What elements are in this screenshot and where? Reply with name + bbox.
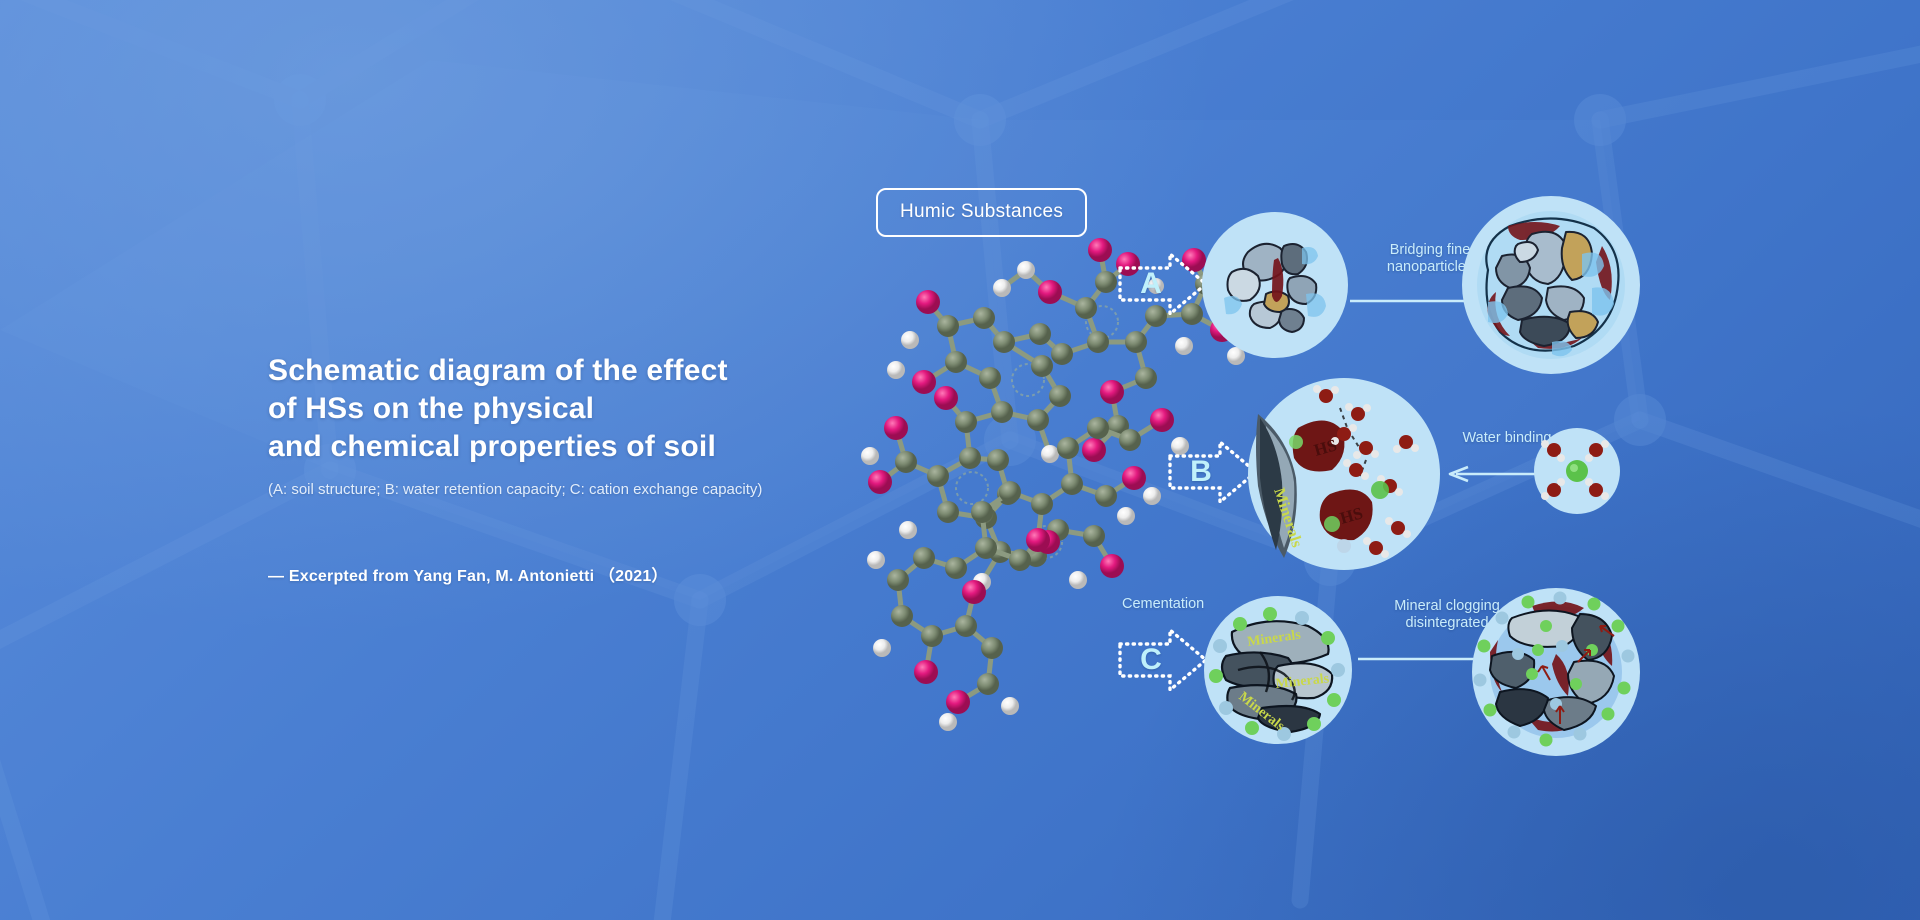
subtitle-legend: (A: soil structure; B: water retention c… (268, 480, 888, 500)
headline-block: Schematic diagram of the effect of HSs o… (268, 352, 888, 586)
source-attribution: — Excerpted from Yang Fan, M. Antonietti… (268, 562, 888, 586)
cemented-minerals-art: Minerals Minerals Minerals (1204, 596, 1352, 744)
hydrated-cation-art (1534, 428, 1620, 514)
hs-mineral-water-art: HS HS Minerals (1248, 378, 1440, 570)
arrow-letter-b: B (1168, 440, 1258, 504)
circle-b-right (1534, 428, 1620, 514)
poster-canvas: Schematic diagram of the effect of HSs o… (0, 0, 1920, 920)
circle-c-left: Minerals Minerals Minerals (1204, 596, 1352, 744)
arrow-letter-c: C (1118, 628, 1208, 692)
bridged-aggregate-art (1462, 196, 1640, 374)
humic-substances-text: Humic Substances (900, 201, 1063, 222)
title-line-2: of HSs on the physical (268, 392, 594, 425)
disintegrated-minerals-art (1472, 588, 1640, 756)
arrow-letter-a: A (1118, 252, 1208, 316)
page-title: Schematic diagram of the effect of HSs o… (268, 352, 888, 466)
block-arrow-c-letter-wrap: C (1118, 628, 1208, 692)
block-arrow-a-letter-wrap: A (1118, 252, 1208, 316)
loose-particles-art (1202, 212, 1348, 358)
block-arrow-b-letter-wrap: B (1168, 440, 1258, 504)
title-line-1: Schematic diagram of the effect (268, 354, 728, 387)
title-line-3: and chemical properties of soil (268, 430, 716, 463)
circle-c-right (1472, 588, 1640, 756)
circle-a-right (1462, 196, 1640, 374)
circle-a-left (1202, 212, 1348, 358)
circle-b-left: HS HS Minerals (1248, 378, 1440, 570)
